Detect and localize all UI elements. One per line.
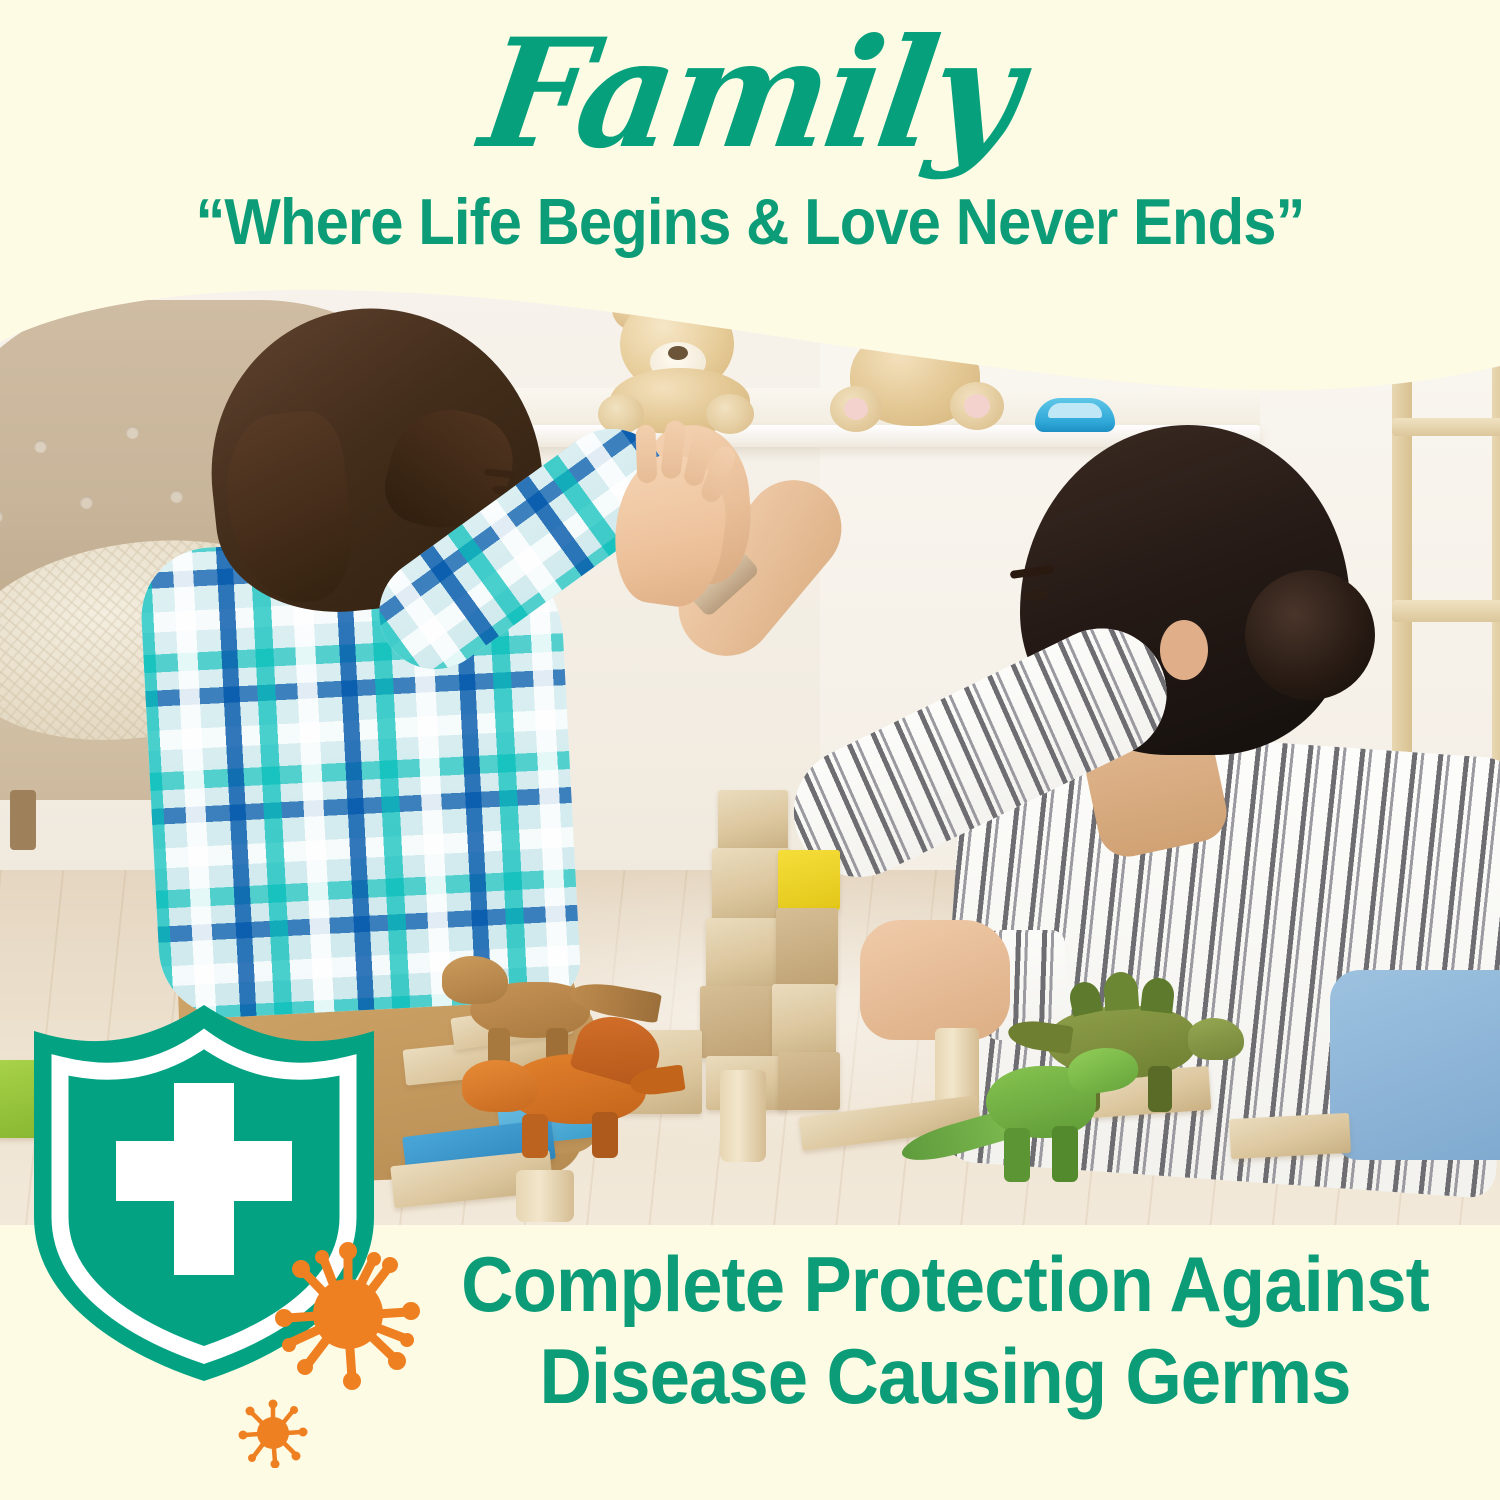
wooden-plank [1229, 1113, 1351, 1159]
ladder-shelf-rung [1392, 600, 1500, 622]
teddy-bear-lying [830, 320, 1020, 440]
footer-headline-line2: Disease Causing Germs [438, 1330, 1452, 1422]
promo-poster: Family “Where Life Begins & Love Never E… [0, 0, 1500, 1500]
woman-hair-bun [1245, 570, 1375, 700]
dinosaur-toy-triceratops [452, 1012, 682, 1162]
ladder-shelf-leg [1392, 270, 1412, 830]
germ-large-icon [272, 1238, 424, 1390]
toy-car [1035, 398, 1115, 432]
woman-resting-hand [860, 920, 1010, 1040]
woman-ear [1160, 620, 1208, 680]
poster-header: Family “Where Life Begins & Love Never E… [0, 0, 1500, 290]
ladder-shelf-rung [1392, 418, 1500, 436]
ladder-shelf-leg [1492, 270, 1500, 830]
wooden-cylinder [720, 1070, 766, 1162]
wooden-cylinder [516, 1170, 574, 1222]
sofa-leg [10, 790, 36, 850]
tagline-text: “Where Life Begins & Love Never Ends” [60, 186, 1440, 258]
germ-small-icon [238, 1398, 308, 1468]
brand-title: Family [0, 14, 1500, 174]
dinosaur-toy-raptor [900, 1030, 1130, 1200]
footer-headline: Complete Protection Against Disease Caus… [438, 1238, 1452, 1422]
woman-jeans [1330, 970, 1500, 1160]
footer-headline-line1: Complete Protection Against [438, 1238, 1452, 1330]
